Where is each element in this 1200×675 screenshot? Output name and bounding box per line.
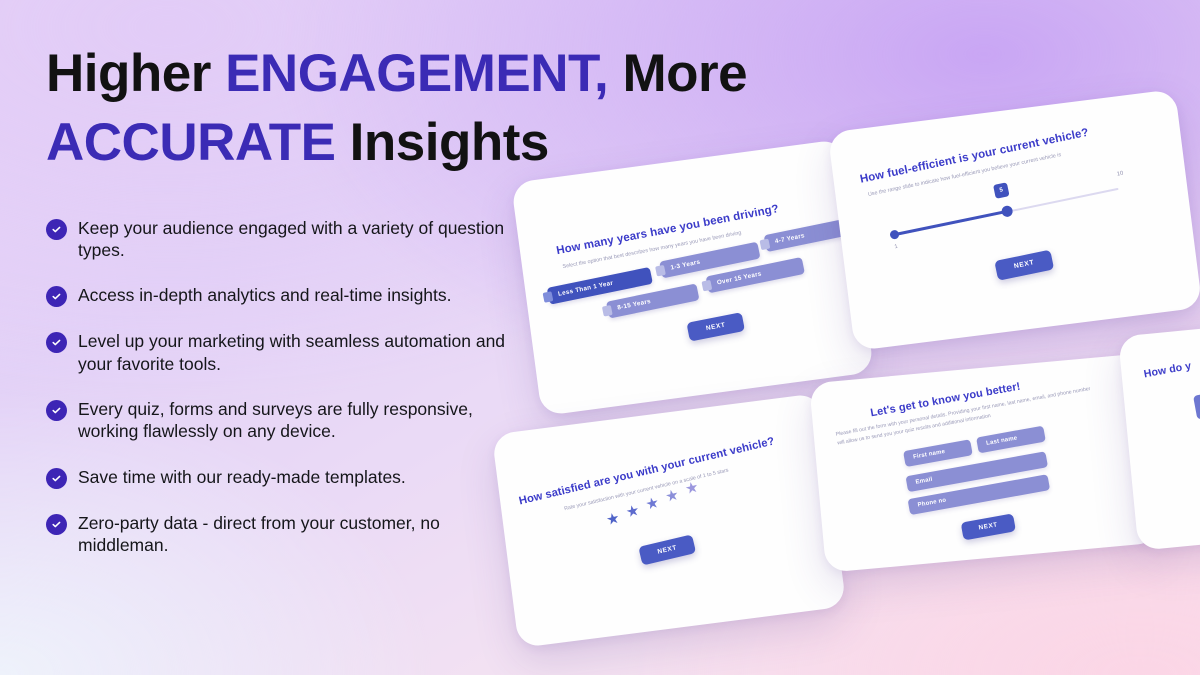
option-handle-icon — [602, 305, 613, 317]
list-item: Every quiz, forms and surveys are fully … — [46, 398, 516, 443]
option-label: 4-7 Years — [774, 232, 805, 245]
next-button[interactable]: NEXT — [686, 312, 745, 341]
first-name-field[interactable]: First name — [903, 439, 973, 467]
field-placeholder: Phone no — [917, 498, 947, 509]
next-button[interactable]: NEXT — [961, 513, 1016, 540]
quiz-card-fuel-efficiency[interactable]: How fuel-efficient is your current vehic… — [828, 89, 1200, 351]
check-circle-icon — [46, 400, 67, 421]
option-label: 1-3 Years — [670, 259, 701, 272]
field-placeholder: Email — [915, 477, 933, 486]
next-button[interactable]: NEXT — [638, 534, 696, 565]
quiz-card-satisfaction[interactable]: How satisfied are you with your current … — [492, 393, 847, 648]
option-handle-icon — [655, 264, 666, 276]
star-icon[interactable]: ★ — [684, 480, 701, 498]
check-circle-icon — [46, 468, 67, 489]
list-item-label: Access in-depth analytics and real-time … — [78, 284, 452, 306]
option-handle-icon — [542, 291, 553, 303]
check-circle-icon — [46, 219, 67, 240]
list-item-label: Level up your marketing with seamless au… — [78, 330, 516, 375]
list-item-label: Every quiz, forms and surveys are fully … — [78, 398, 516, 443]
partial-content-block — [1193, 387, 1200, 420]
check-circle-icon — [46, 286, 67, 307]
check-circle-icon — [46, 332, 67, 353]
slider-min-label: 1 — [894, 244, 898, 251]
list-item: Level up your marketing with seamless au… — [46, 330, 516, 375]
list-item-label: Zero-party data - direct from your custo… — [78, 512, 516, 557]
star-icon[interactable]: ★ — [605, 511, 622, 529]
headline-text-higher: Higher — [46, 44, 225, 103]
field-placeholder: Last name — [986, 435, 1018, 446]
list-item: Zero-party data - direct from your custo… — [46, 512, 516, 557]
option-handle-icon — [759, 238, 770, 250]
quiz-card-personal-details[interactable]: Let's get to know you better! Please fil… — [809, 353, 1160, 573]
quiz-card-years-driving[interactable]: How many years have you been driving? Se… — [511, 139, 874, 416]
star-icon[interactable]: ★ — [644, 495, 661, 513]
option-label: Over 15 Years — [716, 270, 762, 286]
option-label: 8-15 Years — [617, 298, 652, 312]
slider-fill — [893, 210, 1006, 236]
check-circle-icon — [46, 514, 67, 535]
slider-start-dot-icon — [889, 229, 900, 240]
star-icon[interactable]: ★ — [664, 487, 681, 505]
star-icon[interactable]: ★ — [624, 503, 641, 521]
list-item: Keep your audience engaged with a variet… — [46, 217, 516, 262]
field-placeholder: First name — [913, 449, 946, 461]
list-item-label: Save time with our ready-made templates. — [78, 466, 406, 488]
next-button[interactable]: NEXT — [994, 250, 1054, 281]
list-item: Access in-depth analytics and real-time … — [46, 284, 516, 307]
list-item-label: Keep your audience engaged with a variet… — [78, 217, 516, 262]
slider-thumb[interactable] — [1001, 205, 1014, 218]
quiz-card-gallery: How many years have you been driving? Se… — [470, 0, 1200, 675]
last-name-field[interactable]: Last name — [976, 426, 1046, 454]
poster-stage: Higher ENGAGEMENT, More ACCURATE Insight… — [0, 0, 1200, 675]
option-label: Less Than 1 Year — [557, 280, 613, 298]
list-item: Save time with our ready-made templates. — [46, 466, 516, 489]
headline-accent-accurate: ACCURATE — [46, 113, 335, 172]
option-handle-icon — [701, 279, 712, 291]
question-title: How do y — [1143, 343, 1200, 380]
feature-bullet-list: Keep your audience engaged with a variet… — [46, 217, 516, 557]
slider-value-bubble: 5 — [993, 182, 1010, 199]
slider-max-label: 10 — [1116, 171, 1124, 178]
